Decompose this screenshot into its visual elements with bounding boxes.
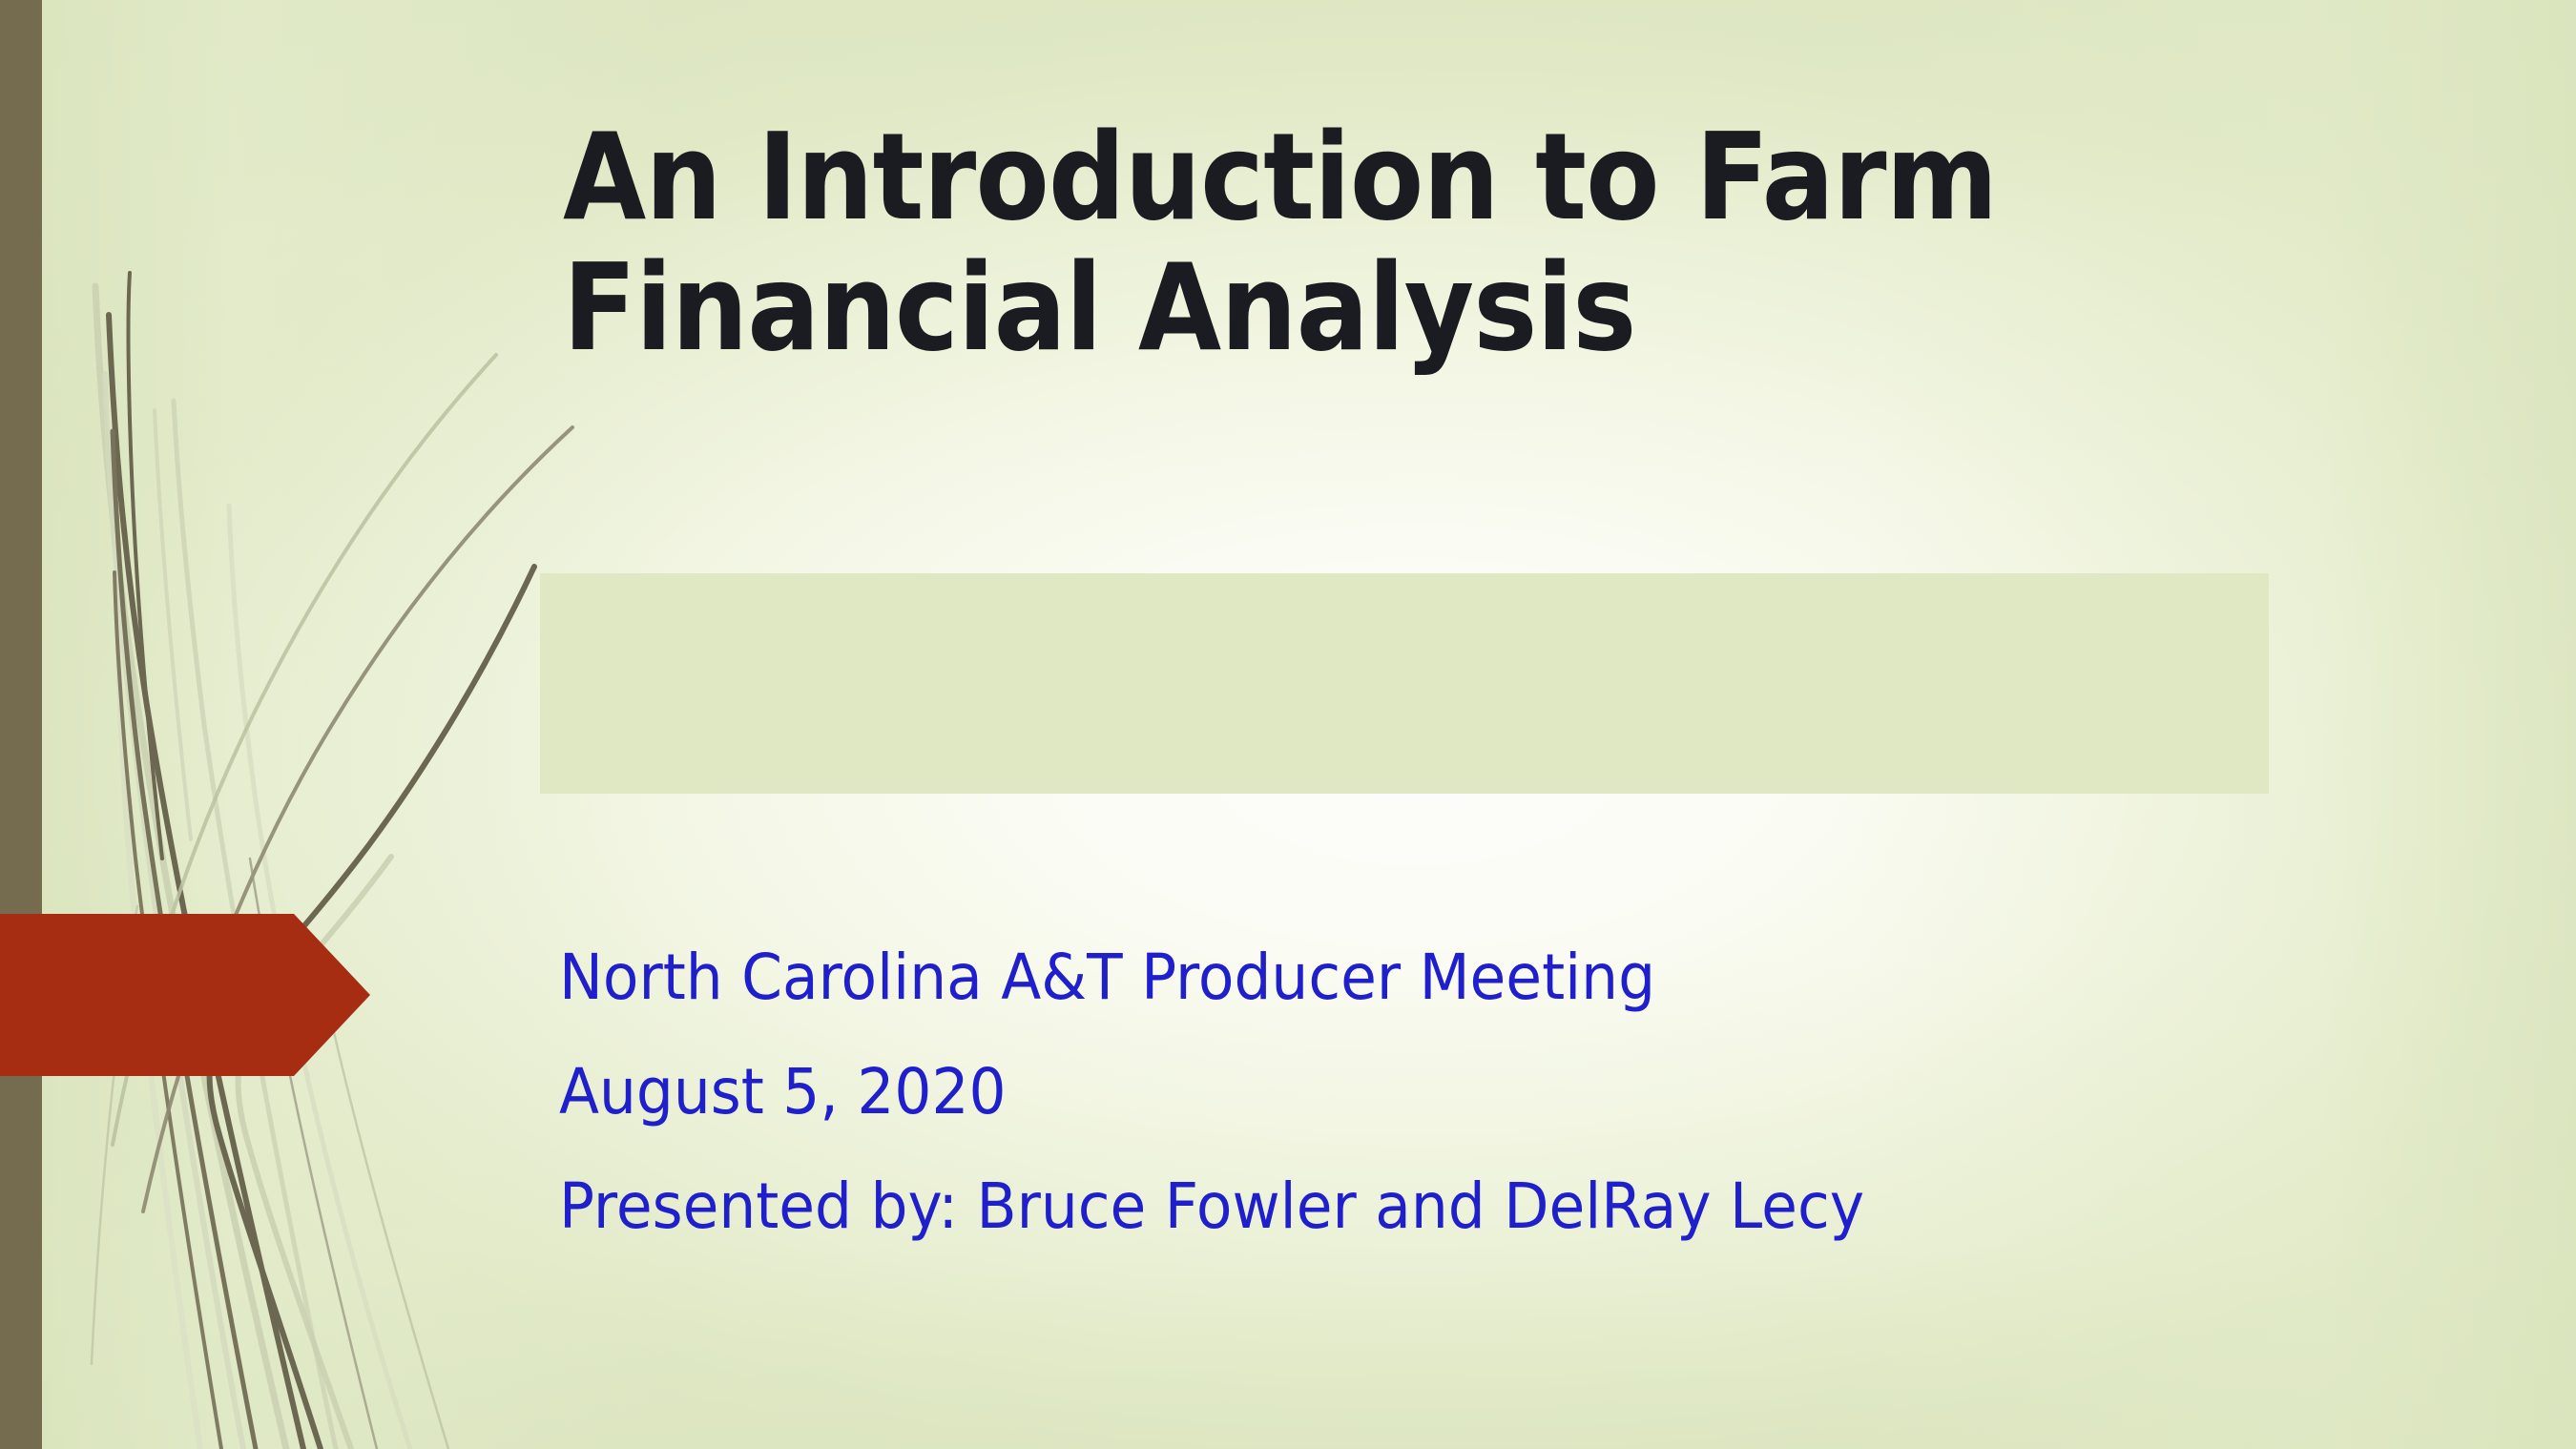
slide-subtitle[interactable]: North Carolina A&T Producer Meeting Augu… [559, 944, 2372, 1288]
grass-reeds-artwork [0, 0, 592, 1449]
red-arrow-banner [0, 914, 372, 1076]
presentation-slide: An Introduction to Farm Financial Analys… [0, 0, 2576, 1449]
empty-content-placeholder[interactable] [540, 573, 2269, 794]
subtitle-presenters: Presented by: Bruce Fowler and DelRay Le… [559, 1173, 2245, 1240]
title-line-1: An Introduction to Farm [563, 122, 2100, 232]
subtitle-meeting-name: North Carolina A&T Producer Meeting [559, 944, 2245, 1011]
slide-title[interactable]: An Introduction to Farm Financial Analys… [563, 122, 2280, 383]
title-line-2: Financial Analysis [563, 253, 2100, 362]
subtitle-date: August 5, 2020 [559, 1059, 2245, 1126]
